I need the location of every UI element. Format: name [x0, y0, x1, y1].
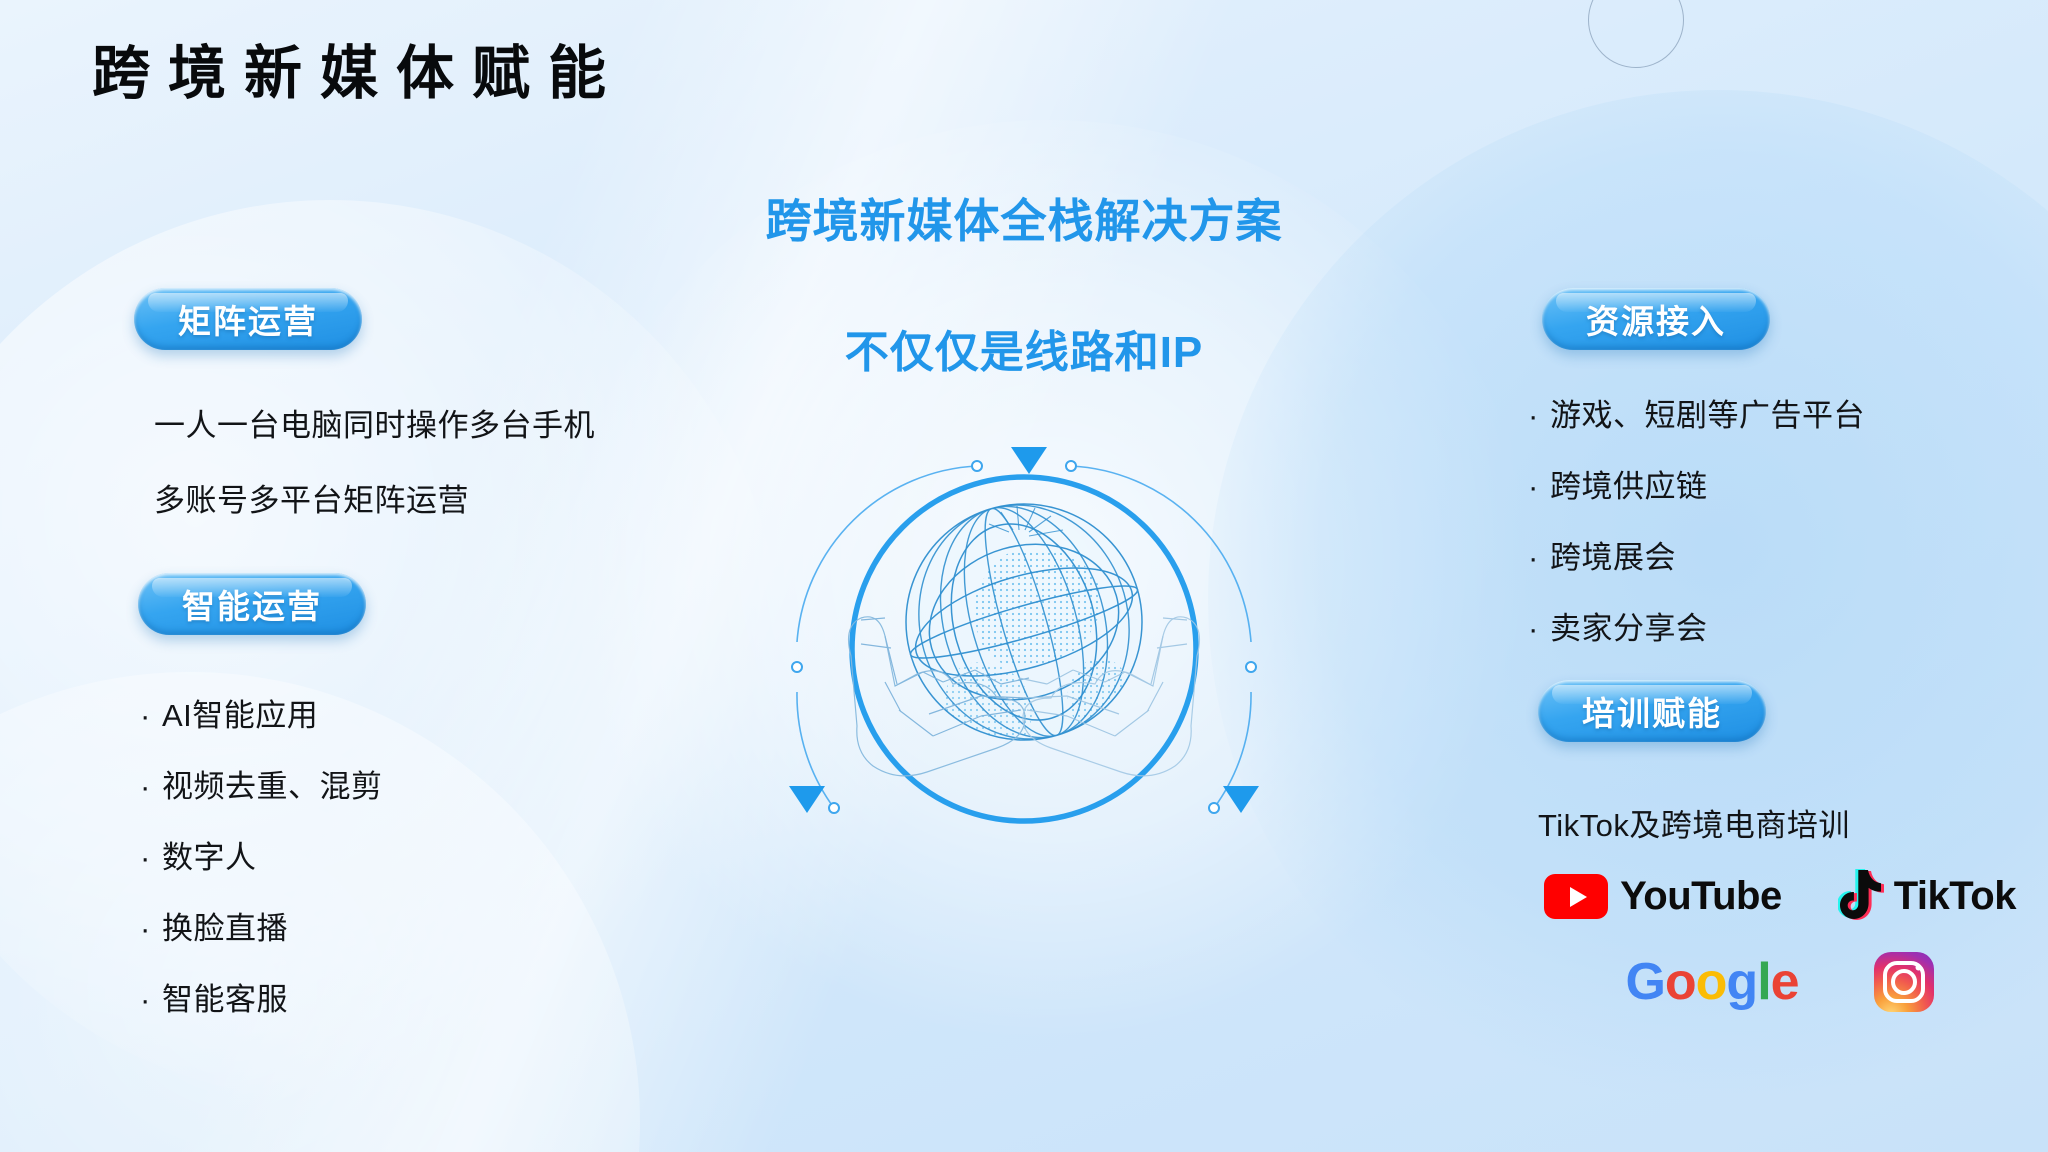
globe-in-hands-illustration	[789, 414, 1259, 884]
right-bullet-list: · 游戏、短剧等广告平台 · 跨境供应链 · 跨境展会 · 卖家分享会	[1528, 390, 1865, 648]
google-letter-2: o	[1665, 953, 1696, 1011]
page-title: 跨境新媒体赋能	[92, 42, 624, 106]
bullet-icon: ·	[140, 771, 162, 802]
logo-row-top: YouTube TikTok	[1500, 868, 2048, 925]
tiktok-wordmark: TikTok	[1894, 874, 2016, 919]
google-logo[interactable]: Google	[1625, 956, 1798, 1008]
google-letter-3: o	[1696, 953, 1727, 1011]
list-item-label: 跨境展会	[1550, 532, 1676, 577]
list-item-label: 卖家分享会	[1550, 603, 1708, 648]
instagram-logo[interactable]	[1873, 951, 1935, 1013]
tiktok-note-icon	[1838, 868, 1884, 925]
pill-smart-operations[interactable]: 智能运营	[138, 573, 366, 635]
youtube-play-icon	[1544, 874, 1608, 919]
list-item: · 跨境供应链	[1528, 461, 1865, 506]
list-item: · 换脸直播	[140, 903, 383, 948]
google-letter-5: l	[1757, 953, 1770, 1011]
logo-row-bottom: Google	[1500, 951, 2048, 1013]
list-item-label: 跨境供应链	[1550, 461, 1708, 506]
pill-resource-access[interactable]: 资源接入	[1542, 288, 1770, 350]
right-line-1: TikTok及跨境电商培训	[1538, 800, 1850, 845]
list-item-label: AI智能应用	[162, 690, 318, 735]
list-item: · 数字人	[140, 832, 383, 877]
google-letter-6: e	[1771, 953, 1799, 1011]
youtube-wordmark: YouTube	[1620, 874, 1782, 919]
list-item: · 游戏、短剧等广告平台	[1528, 390, 1865, 435]
bullet-icon: ·	[1528, 613, 1550, 644]
bullet-icon: ·	[1528, 400, 1550, 431]
list-item: · AI智能应用	[140, 690, 383, 735]
center-heading-secondary: 不仅仅是线路和IP	[845, 316, 1204, 380]
pill-matrix-operations[interactable]: 矩阵运营	[134, 288, 362, 350]
background-left-circle	[0, 200, 780, 1100]
list-item-label: 换脸直播	[162, 903, 288, 948]
bullet-icon: ·	[1528, 471, 1550, 502]
center-heading-primary: 跨境新媒体全栈解决方案	[766, 185, 1283, 251]
tiktok-logo[interactable]: TikTok	[1838, 868, 2016, 925]
list-item-label: 智能客服	[162, 974, 288, 1019]
list-item-label: 视频去重、混剪	[162, 761, 383, 806]
list-item: · 卖家分享会	[1528, 603, 1865, 648]
slide-canvas: 跨境新媒体赋能 跨境新媒体全栈解决方案 不仅仅是线路和IP	[0, 0, 2048, 1152]
bullet-icon: ·	[1528, 542, 1550, 573]
list-item: · 视频去重、混剪	[140, 761, 383, 806]
bullet-icon: ·	[140, 700, 162, 731]
youtube-logo[interactable]: YouTube	[1544, 874, 1782, 919]
list-item-label: 数字人	[162, 832, 257, 877]
google-letter-4: g	[1726, 953, 1757, 1011]
bullet-icon: ·	[140, 984, 162, 1015]
left-bullet-list: · AI智能应用 · 视频去重、混剪 · 数字人 · 换脸直播 · 智能客服	[140, 690, 383, 1019]
list-item: · 跨境展会	[1528, 532, 1865, 577]
bullet-icon: ·	[140, 842, 162, 873]
left-line-2: 多账号多平台矩阵运营	[154, 475, 469, 520]
platform-logo-group: YouTube TikTok Google	[1500, 868, 2048, 1039]
decorative-ring-outline	[1588, 0, 1684, 68]
left-line-1: 一人一台电脑同时操作多台手机	[154, 400, 595, 445]
pill-training-empowerment[interactable]: 培训赋能	[1538, 680, 1766, 742]
google-letter-1: G	[1625, 953, 1664, 1011]
bullet-icon: ·	[140, 913, 162, 944]
list-item: · 智能客服	[140, 974, 383, 1019]
list-item-label: 游戏、短剧等广告平台	[1550, 390, 1865, 435]
